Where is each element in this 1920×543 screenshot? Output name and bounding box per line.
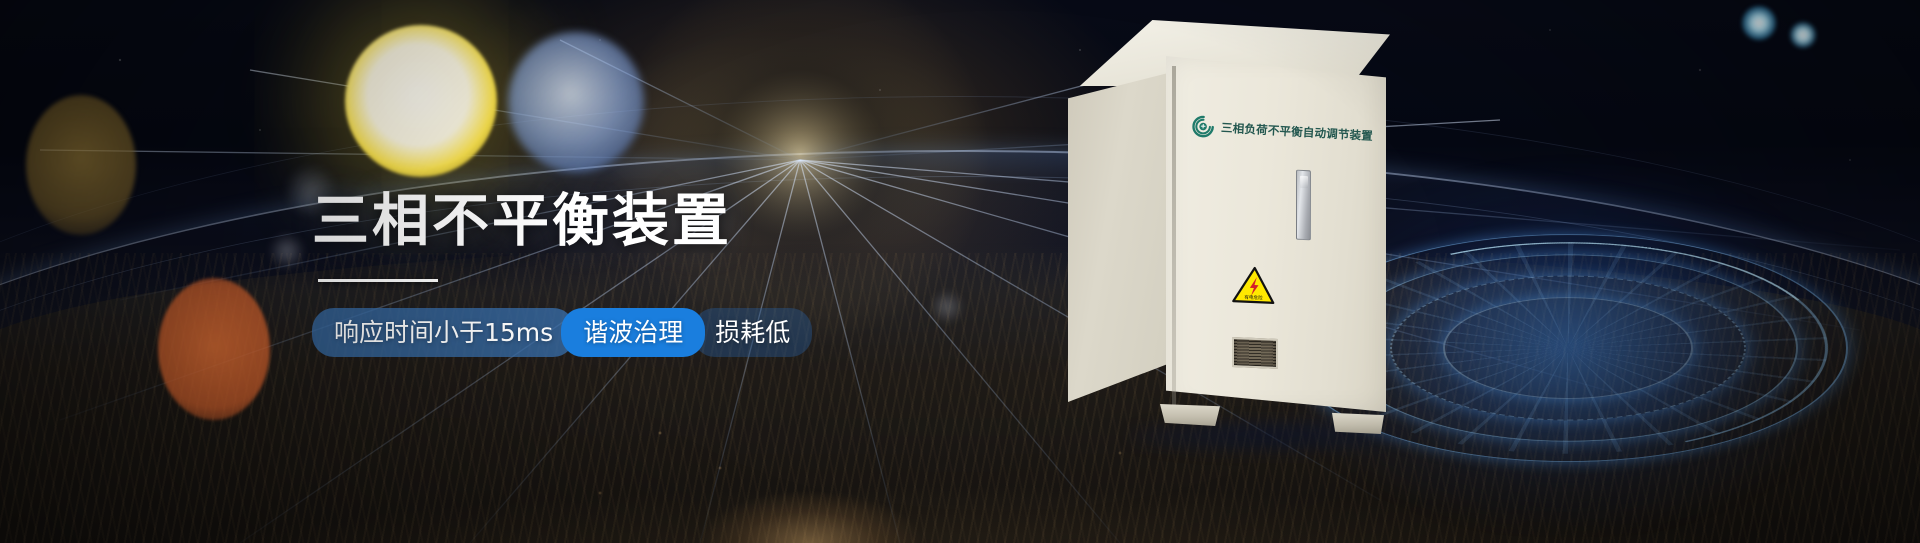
- earth-terrain: [0, 243, 1920, 543]
- cabinet-foot-right: [1332, 412, 1384, 434]
- ventilation-grille-icon: [1232, 337, 1278, 369]
- page-title: 三相不平衡装置: [312, 190, 932, 253]
- feature-tag-harmonic-control[interactable]: 谐波治理: [561, 308, 705, 357]
- door-handle-icon: [1296, 170, 1311, 241]
- shield-circle-logo-icon: [1192, 115, 1215, 138]
- electrical-cabinet: 三相负荷不平衡自动调节装置 有电危险: [1060, 20, 1390, 440]
- cabinet-side-panel: [1068, 72, 1172, 402]
- hero-banner: 三相负荷不平衡自动调节装置 有电危险 三相不平衡装置 响应时间小于15ms 谐波…: [0, 0, 1920, 543]
- city-lights-glow: [660, 413, 960, 543]
- electrical-hazard-triangle-icon: 有电危险: [1231, 265, 1277, 305]
- feature-tag-list: 响应时间小于15ms 谐波治理 损耗低: [312, 308, 932, 357]
- banner-content: 三相不平衡装置 响应时间小于15ms 谐波治理 损耗低: [312, 190, 932, 357]
- cabinet-door-seam: [1172, 66, 1176, 406]
- feature-tag-low-loss[interactable]: 损耗低: [693, 308, 812, 357]
- earth-texture: [0, 253, 1920, 543]
- cabinet-foot-left: [1160, 404, 1220, 426]
- feature-tag-response-time[interactable]: 响应时间小于15ms: [312, 308, 575, 357]
- title-divider: [318, 279, 438, 282]
